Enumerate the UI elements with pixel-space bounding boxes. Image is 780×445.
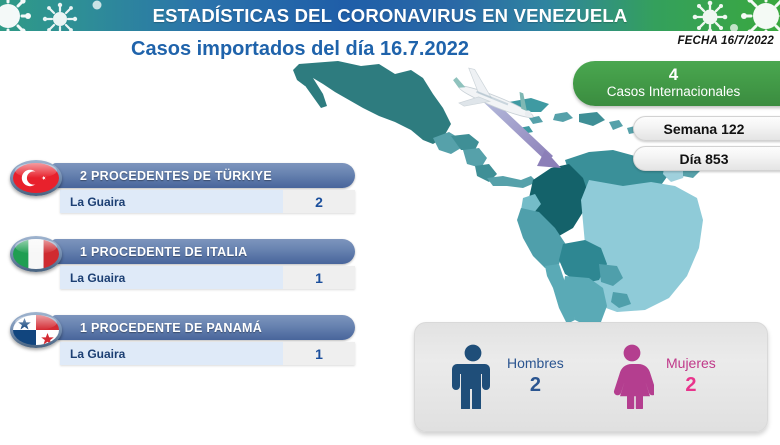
international-cases-label: Casos Internacionales [607, 84, 741, 100]
header-banner: ESTADÍSTICAS DEL CORONAVIRUS EN VENEZUEL… [0, 0, 780, 31]
gender-women-label: Mujeres [666, 354, 716, 372]
state-count: 1 [283, 342, 355, 365]
gender-men-value: 2 [507, 372, 564, 398]
state-count: 1 [283, 266, 355, 289]
panama-flag-icon [10, 312, 62, 348]
gender-men-label: Hombres [507, 354, 564, 372]
country-card: 1 PROCEDENTE DE PANAMÁ La Guaira 1 [10, 312, 355, 372]
table-row: La Guaira 1 [60, 266, 355, 289]
gender-women: Mujeres 2 [610, 343, 716, 409]
country-card: 1 PROCEDENTE DE ITALIA La Guaira 1 [10, 236, 355, 296]
male-icon [451, 343, 495, 409]
fecha-label: FECHA 16/7/2022 [677, 35, 774, 47]
table-row: La Guaira 1 [60, 342, 355, 365]
infographic-root: ESTADÍSTICAS DEL CORONAVIRUS EN VENEZUEL… [0, 0, 780, 445]
international-cases-number: 4 [669, 66, 678, 84]
page-title: ESTADÍSTICAS DEL CORONAVIRUS EN VENEZUEL… [0, 0, 780, 31]
week-pill: Semana 122 [633, 116, 780, 141]
country-card-title: 1 PROCEDENTE DE PANAMÁ [52, 315, 355, 340]
country-card-title: 1 PROCEDENTE DE ITALIA [52, 239, 355, 264]
state-name: La Guaira [60, 190, 283, 213]
turkey-flag-icon [10, 160, 62, 196]
female-icon [610, 343, 654, 409]
gender-panel: Hombres 2 Mujeres 2 [414, 322, 768, 432]
state-count: 2 [283, 190, 355, 213]
italy-flag-icon [10, 236, 62, 272]
international-cases-pill: 4 Casos Internacionales [573, 61, 780, 106]
gender-women-value: 2 [666, 372, 716, 398]
state-name: La Guaira [60, 342, 283, 365]
gender-men: Hombres 2 [451, 343, 564, 409]
country-card: 2 PROCEDENTES DE TÜRKIYE La Guaira 2 [10, 160, 355, 220]
country-card-title: 2 PROCEDENTES DE TÜRKIYE [52, 163, 355, 188]
table-row: La Guaira 2 [60, 190, 355, 213]
airplane-icon [446, 63, 542, 131]
state-name: La Guaira [60, 266, 283, 289]
day-pill: Día 853 [633, 146, 780, 171]
